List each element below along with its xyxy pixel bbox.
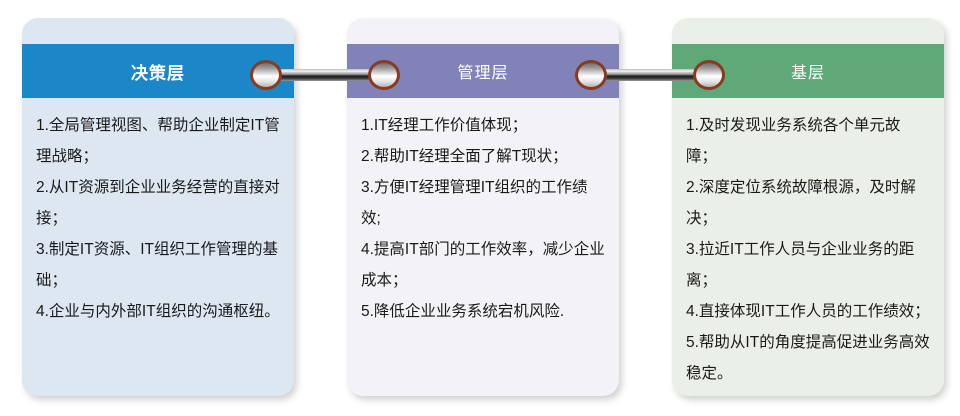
card-management-layer-body: 1.IT经理工作价值体现； 2.帮助IT经理全面了解T现状； 3.方便IT经理管… [347, 98, 619, 327]
card-decision-layer-title: 决策层 [131, 59, 185, 84]
connector-management-base [575, 60, 725, 90]
three-tier-diagram: 决策层 1.全局管理视图、帮助企业制定IT管理战略； 2.从IT资源到企业业务经… [0, 0, 960, 416]
connector-knob-left-icon [575, 60, 607, 90]
connector-knob-left-icon [250, 60, 282, 90]
connector-decision-management [250, 60, 400, 90]
card-decision-layer-body: 1.全局管理视图、帮助企业制定IT管理战略； 2.从IT资源到企业业务经营的直接… [22, 98, 294, 327]
card-base-layer-title: 基层 [791, 59, 825, 83]
connector-knob-right-icon [368, 60, 400, 90]
connector-knob-right-icon [693, 60, 725, 90]
card-base-layer-body: 1.及时发现业务系统各个单元故障； 2.深度定位系统故障根源，及时解决； 3.拉… [672, 98, 944, 389]
card-management-layer-title: 管理层 [457, 59, 508, 83]
